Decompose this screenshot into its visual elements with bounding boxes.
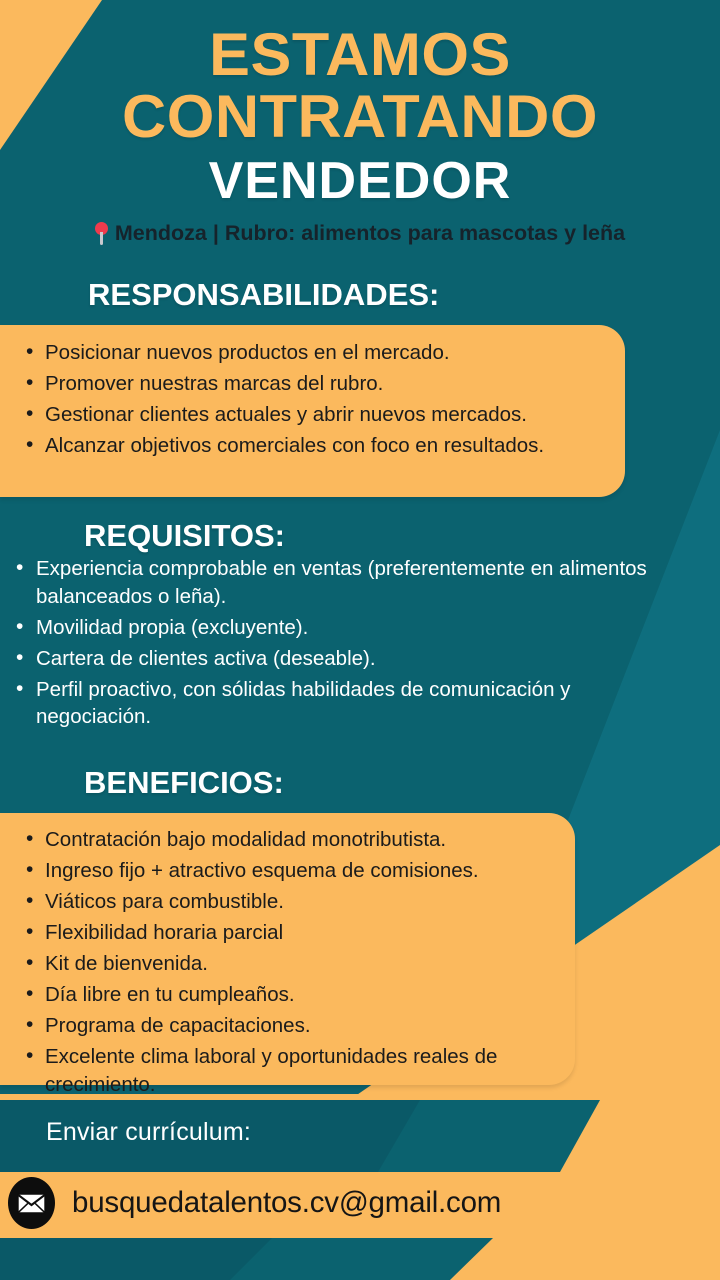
requisitos-block: Experiencia comprobable en ventas (prefe… [0, 555, 690, 734]
email-contact-row[interactable]: busquedatalentos.cv@gmail.com [8, 1177, 501, 1229]
list-item: Experiencia comprobable en ventas (prefe… [14, 555, 690, 610]
email-address[interactable]: busquedatalentos.cv@gmail.com [72, 1186, 501, 1220]
list-item: Viáticos para combustible. [24, 888, 551, 916]
list-item: Excelente clima laboral y oportunidades … [24, 1043, 551, 1098]
location-industry-line: Mendoza | Rubro: alimentos para mascotas… [0, 221, 720, 246]
section-heading-requisitos: REQUISITOS: [84, 518, 285, 554]
list-item: Cartera de clientes activa (deseable). [14, 645, 690, 673]
beneficios-card: Contratación bajo modalidad monotributis… [0, 813, 575, 1085]
list-item: Promover nuestras marcas del rubro. [24, 370, 595, 398]
job-posting-poster: ESTAMOS CONTRATANDO VENDEDOR Mendoza | R… [0, 0, 720, 1280]
header: ESTAMOS CONTRATANDO VENDEDOR Mendoza | R… [0, 0, 720, 246]
section-heading-beneficios: BENEFICIOS: [84, 765, 284, 801]
list-item: Contratación bajo modalidad monotributis… [24, 826, 551, 854]
location-pin-icon [95, 222, 108, 246]
job-role-title: VENDEDOR [0, 152, 720, 210]
list-item: Posicionar nuevos productos en el mercad… [24, 339, 595, 367]
list-item: Perfil proactivo, con sólidas habilidade… [14, 676, 690, 731]
requisitos-list: Experiencia comprobable en ventas (prefe… [0, 555, 690, 731]
list-item: Día libre en tu cumpleaños. [24, 981, 551, 1009]
list-item: Programa de capacitaciones. [24, 1012, 551, 1040]
footer-band-bottom-shade [0, 1238, 272, 1280]
responsabilidades-card: Posicionar nuevos productos en el mercad… [0, 325, 625, 497]
list-item: Flexibilidad horaria parcial [24, 919, 551, 947]
list-item: Alcanzar objetivos comerciales con foco … [24, 432, 595, 460]
list-item: Movilidad propia (excluyente). [14, 614, 690, 642]
responsabilidades-list: Posicionar nuevos productos en el mercad… [0, 325, 625, 460]
send-cv-label: Enviar currículum: [46, 1118, 251, 1147]
page-title-line1: ESTAMOS [0, 24, 720, 86]
section-heading-responsabilidades: RESPONSABILIDADES: [88, 277, 439, 313]
envelope-icon [8, 1177, 55, 1229]
list-item: Kit de bienvenida. [24, 950, 551, 978]
location-industry-text: Mendoza | Rubro: alimentos para mascotas… [115, 221, 625, 246]
list-item: Ingreso fijo + atractivo esquema de comi… [24, 857, 551, 885]
beneficios-list: Contratación bajo modalidad monotributis… [0, 813, 575, 1098]
page-title-line2: CONTRATANDO [0, 86, 720, 148]
list-item: Gestionar clientes actuales y abrir nuev… [24, 401, 595, 429]
